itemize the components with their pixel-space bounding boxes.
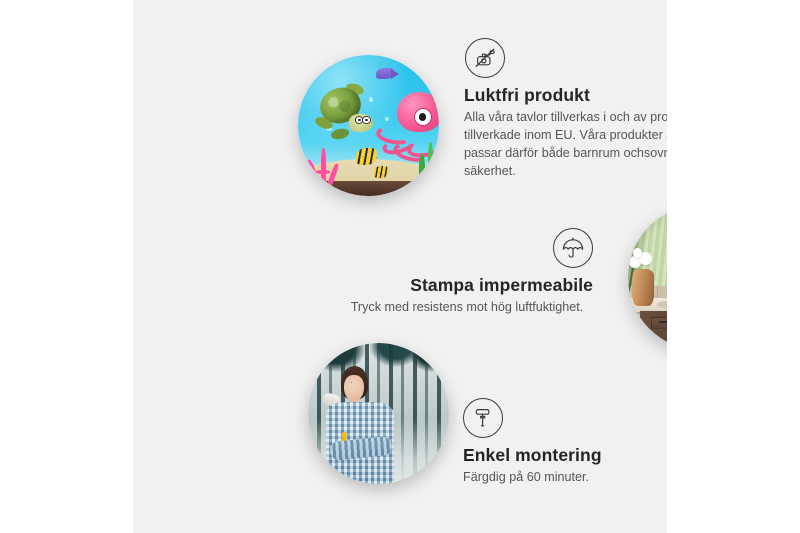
feature-waterproof-icon-wrap	[341, 228, 593, 268]
fish-yellow-icon	[356, 148, 377, 165]
fish-yellow-icon	[374, 166, 388, 177]
feature-waterproof-title: Stampa impermeabile	[341, 275, 593, 295]
drawer-handle	[659, 321, 667, 322]
feature-waterproof: Stampa impermeabile Tryck med resistens …	[341, 228, 593, 317]
seaweed-icon	[419, 154, 425, 182]
screenshot-root: Luktfri produkt Alla våra tavlor tillver…	[0, 0, 800, 533]
umbrella-icon	[553, 228, 593, 268]
paint-roller-icon	[463, 398, 503, 438]
woman-figure	[325, 366, 404, 484]
woman-forest-scene	[308, 343, 449, 484]
wooden-vanity	[640, 311, 667, 350]
product-photo-woman[interactable]	[308, 343, 449, 484]
feature-odourless: Luktfri produkt Alla våra tavlor tillver…	[464, 38, 667, 181]
coral-icon	[306, 142, 348, 184]
feature-mounting-title: Enkel montering	[463, 445, 667, 465]
feature-mounting-body: Färgdig på 60 minuter.	[463, 469, 667, 487]
feature-waterproof-body: Tryck med resistens mot hög luftfuktighe…	[341, 299, 593, 317]
product-feature-panel: Luktfri produkt Alla våra tavlor tillver…	[133, 0, 667, 533]
feature-mounting: Enkel montering Färgdig på 60 minuter.	[463, 398, 667, 487]
ocean-scene	[298, 55, 439, 196]
turtle-icon	[315, 87, 374, 135]
product-photo-bathroom[interactable]	[628, 205, 667, 350]
soap-dish-icon	[657, 301, 667, 308]
seaweed-icon	[428, 142, 434, 179]
white-flowers-icon	[628, 247, 660, 273]
feature-odourless-body: Alla våra tavlor tillverkas i och av pro…	[464, 109, 667, 181]
feature-mounting-icon-wrap	[463, 398, 667, 438]
feature-odourless-icon-wrap	[464, 38, 667, 78]
bathroom-scene	[628, 205, 667, 350]
fish-purple-icon	[376, 68, 394, 79]
product-photo-ocean[interactable]	[298, 55, 439, 196]
feature-odourless-title: Luktfri produkt	[464, 85, 667, 105]
no-odour-spray-bottle-icon	[465, 38, 505, 78]
